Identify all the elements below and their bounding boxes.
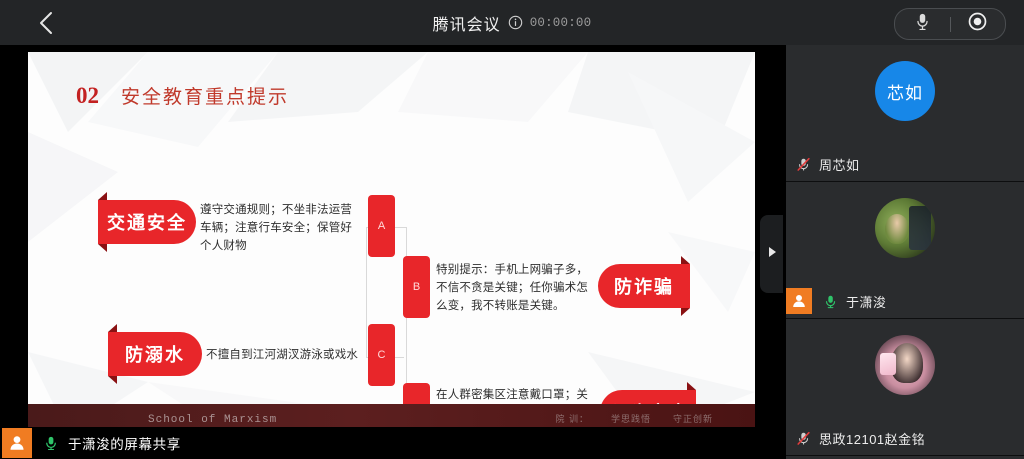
participant-footer: 周芯如	[786, 153, 1024, 175]
avatar: 芯如	[875, 61, 935, 121]
topic-pill-c: 防溺水	[108, 332, 202, 376]
microphone-button[interactable]	[895, 9, 950, 39]
slide-title: 02 安全教育重点提示	[76, 82, 289, 109]
screen-share-label: 于潇浚的屏幕共享	[68, 433, 181, 453]
slide-motto-label: 院 训：	[555, 412, 589, 425]
pill-notch	[681, 308, 690, 316]
back-chevron-icon	[38, 10, 54, 36]
pill-notch	[98, 244, 107, 252]
meeting-title: 腾讯会议	[433, 11, 501, 35]
slide-motto-2: 守正创新	[673, 412, 713, 425]
slide-motto-1: 学思践悟	[611, 412, 651, 425]
microphone-muted-icon	[796, 155, 812, 173]
participant-sidebar[interactable]: 芯如 周芯如	[786, 45, 1024, 459]
slide-number: 02	[76, 83, 99, 109]
pill-notch	[108, 324, 117, 332]
participant-tile[interactable]: 芯如 周芯如	[786, 45, 1024, 182]
meeting-info-group: 腾讯会议 00:00:00	[0, 0, 1024, 45]
meeting-timer: 00:00:00	[530, 16, 592, 30]
pill-notch	[98, 192, 107, 200]
topic-letter-b: B	[403, 256, 430, 318]
slide-heading: 安全教育重点提示	[121, 82, 289, 109]
topic-pill-b: 防诈骗	[598, 264, 690, 308]
topic-letter-a: A	[368, 195, 395, 257]
slide-footer-right-text: 院 训： 学思践悟 守正创新	[555, 412, 713, 425]
participant-name: 周芯如	[819, 155, 860, 174]
host-person-icon	[8, 434, 26, 452]
participant-footer: 于潇浚	[786, 290, 1024, 312]
topic-desc-a: 遵守交通规则；不坐非法运营车辆；注意行车安全；保管好个人财物	[200, 202, 360, 255]
participant-tile[interactable]: 于潇浚	[786, 182, 1024, 319]
topic-pill-b-label: 防诈骗	[614, 273, 674, 299]
host-badge	[2, 428, 32, 458]
avatar	[875, 198, 935, 258]
participant-footer: 思政12101赵金铭	[786, 427, 1024, 449]
avatar-initials: 芯如	[887, 79, 923, 104]
back-button[interactable]	[30, 10, 62, 36]
topic-letter-a-label: A	[378, 220, 385, 232]
topic-letter-c: C	[368, 324, 395, 386]
info-circle-icon[interactable]	[508, 15, 523, 30]
topic-pill-a: 交通安全	[98, 200, 196, 244]
top-bar: 腾讯会议 00:00:00	[0, 0, 1024, 45]
host-badge	[786, 288, 812, 314]
top-bar-controls	[894, 8, 1006, 40]
participant-tile[interactable]: 思政12101赵金铭	[786, 319, 1024, 456]
shared-screen-area[interactable]: 02 安全教育重点提示 交通安全 遵守交通规则；不坐非法运营车辆；注意行车安全；…	[0, 45, 786, 459]
topic-desc-c: 不擅自到江河湖汊游泳或戏水	[206, 347, 366, 365]
microphone-icon	[915, 12, 930, 37]
topic-desc-b: 特别提示：手机上网骗子多，不信不贪是关键；任你骗术怎么变，我不转账是关键。	[436, 262, 596, 315]
play-triangle-icon	[766, 245, 778, 264]
pill-notch	[681, 256, 690, 264]
presentation-slide: 02 安全教育重点提示 交通安全 遵守交通规则；不坐非法运营车辆；注意行车安全；…	[28, 52, 755, 434]
record-button[interactable]	[951, 9, 1006, 39]
sidebar-collapse-handle[interactable]	[760, 215, 783, 293]
participant-name: 思政12101赵金铭	[819, 429, 925, 448]
microphone-on-icon	[43, 434, 60, 452]
host-person-icon	[791, 293, 807, 309]
topic-letter-c-label: C	[378, 349, 386, 361]
meeting-window: 腾讯会议 00:00:00	[0, 0, 1024, 459]
pill-notch	[687, 382, 696, 390]
microphone-on-icon	[823, 292, 839, 310]
slide-footer-left-text: School of Marxism	[148, 414, 277, 426]
participant-name: 于潇浚	[846, 292, 887, 311]
screen-share-status-bar: 于潇浚的屏幕共享	[0, 427, 786, 459]
connector-line-2	[366, 227, 367, 357]
microphone-muted-icon	[796, 429, 812, 447]
topic-pill-c-label: 防溺水	[125, 341, 185, 367]
topic-letter-b-label: B	[413, 281, 420, 293]
pill-notch	[108, 376, 117, 384]
avatar	[875, 335, 935, 395]
record-circle-icon	[968, 12, 987, 36]
topic-pill-a-label: 交通安全	[107, 209, 187, 235]
